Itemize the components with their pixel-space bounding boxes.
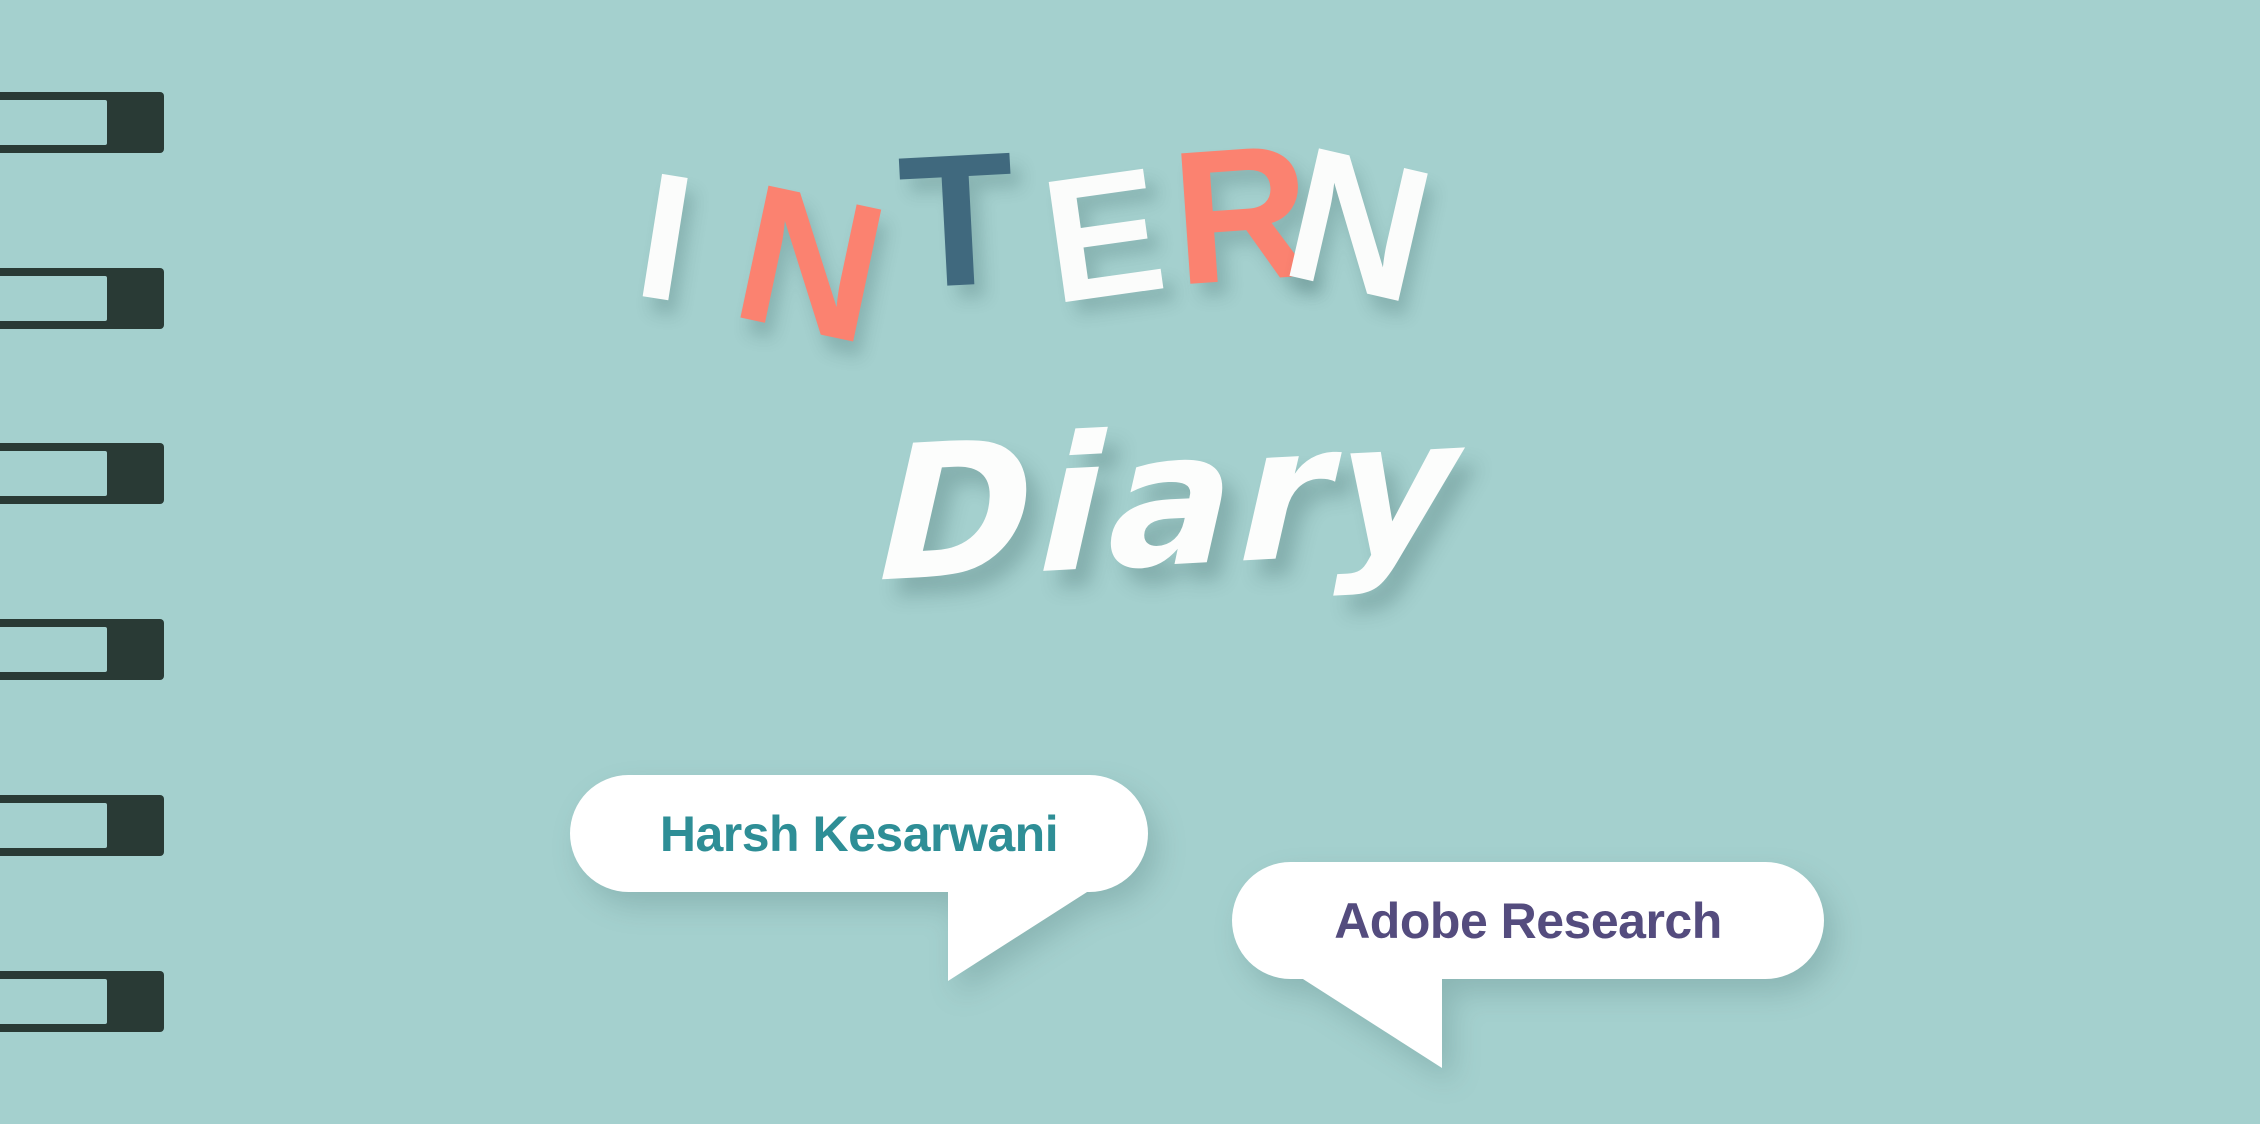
binder-ring-icon xyxy=(0,92,164,153)
title-letter-t: T xyxy=(895,123,1020,317)
binder-ring-hole xyxy=(0,451,107,496)
title-card-canvas: I N T E R N Diary Harsh Kesarwani Adobe … xyxy=(0,0,2260,1124)
title-letter-i: I xyxy=(626,145,704,331)
speech-bubble-author[interactable]: Harsh Kesarwani xyxy=(570,775,1148,892)
binder-ring-icon xyxy=(0,795,164,856)
title-word-intern: I N T E R N xyxy=(600,120,1660,420)
binder-ring-icon xyxy=(0,443,164,504)
title-letter-n-first: N xyxy=(721,153,900,374)
speech-bubble-tail-icon xyxy=(1292,972,1442,1068)
binder-ring-icon xyxy=(0,268,164,329)
author-name-label: Harsh Kesarwani xyxy=(660,805,1058,863)
binder-ring-hole xyxy=(0,627,107,672)
title-letter-e: E xyxy=(1033,141,1174,332)
binder-ring-hole xyxy=(0,100,107,145)
organization-label: Adobe Research xyxy=(1334,892,1722,950)
speech-bubble-tail-icon xyxy=(948,885,1098,981)
title-word-diary: Diary xyxy=(877,392,1466,608)
binder-ring-hole xyxy=(0,803,107,848)
speech-bubble-organization[interactable]: Adobe Research xyxy=(1232,862,1824,979)
binder-ring-icon xyxy=(0,619,164,680)
binder-ring-icon xyxy=(0,971,164,1032)
binder-ring-hole xyxy=(0,979,107,1024)
notebook-binding xyxy=(0,0,170,1124)
binder-ring-hole xyxy=(0,276,107,321)
